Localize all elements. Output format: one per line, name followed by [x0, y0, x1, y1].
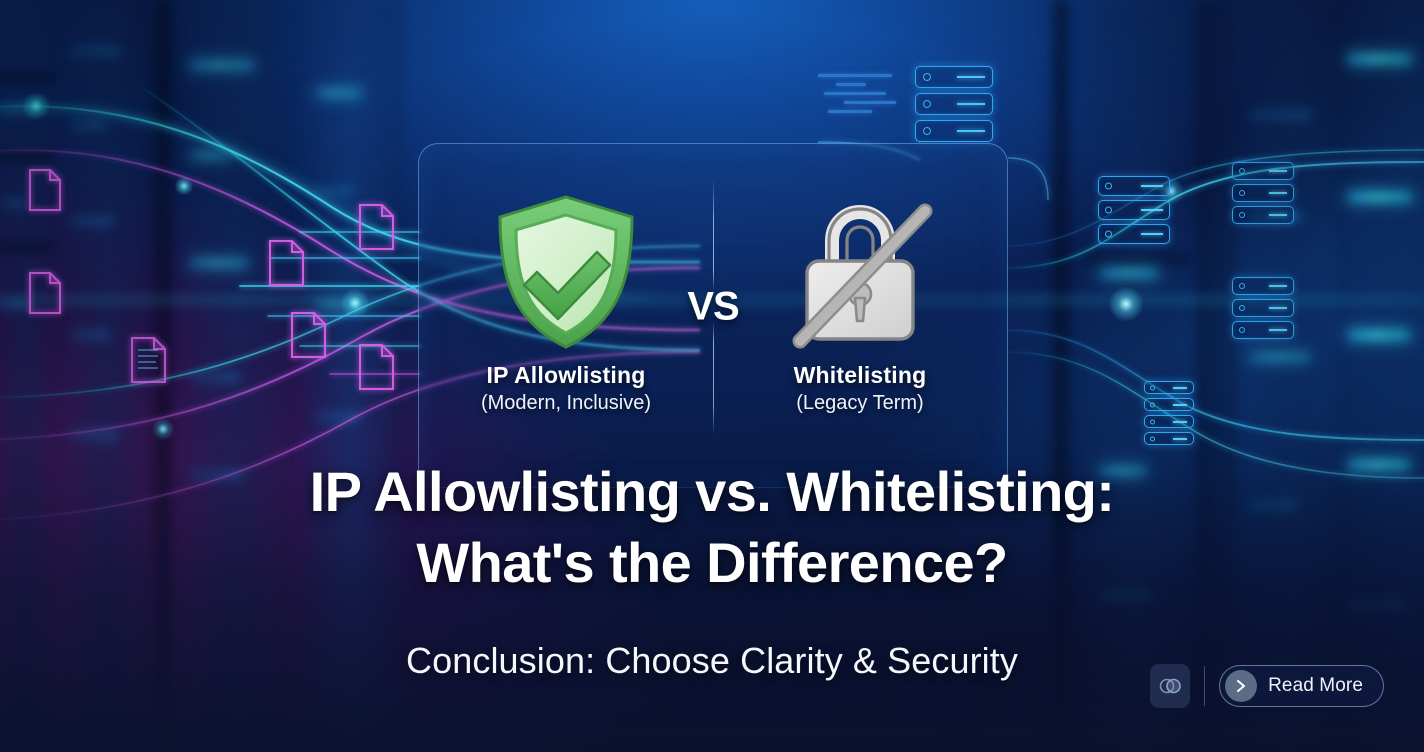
headline-line-1: IP Allowlisting vs. Whitelisting:: [0, 456, 1424, 527]
gray-padlock-crossed-out-icon: [785, 192, 935, 352]
footer-divider: [1204, 666, 1205, 706]
chevron-right-icon: [1225, 670, 1257, 702]
headline-line-2: What's the Difference?: [0, 527, 1424, 598]
read-more-label: Read More: [1268, 675, 1363, 697]
infographic-banner: IP Allowlisting (Modern, Inclusive): [0, 0, 1424, 752]
comparison-card: IP Allowlisting (Modern, Inclusive): [418, 143, 1008, 488]
comparison-right-column: Whitelisting (Legacy Term): [713, 144, 1007, 415]
vs-label: VS: [687, 285, 738, 330]
left-subtitle: (Modern, Inclusive): [481, 391, 651, 415]
right-label-block: Whitelisting (Legacy Term): [794, 362, 927, 415]
left-title: IP Allowlisting: [481, 362, 651, 388]
comparison-left-column: IP Allowlisting (Modern, Inclusive): [419, 144, 713, 415]
read-more-button[interactable]: Read More: [1219, 665, 1384, 707]
green-shield-check-icon: [492, 192, 640, 352]
right-subtitle: (Legacy Term): [794, 391, 927, 415]
page-title: IP Allowlisting vs. Whitelisting: What's…: [0, 456, 1424, 598]
right-title: Whitelisting: [794, 362, 927, 388]
left-label-block: IP Allowlisting (Modern, Inclusive): [481, 362, 651, 415]
footer-controls: Read More: [1150, 664, 1384, 708]
overlapping-circles-icon[interactable]: [1150, 664, 1190, 708]
